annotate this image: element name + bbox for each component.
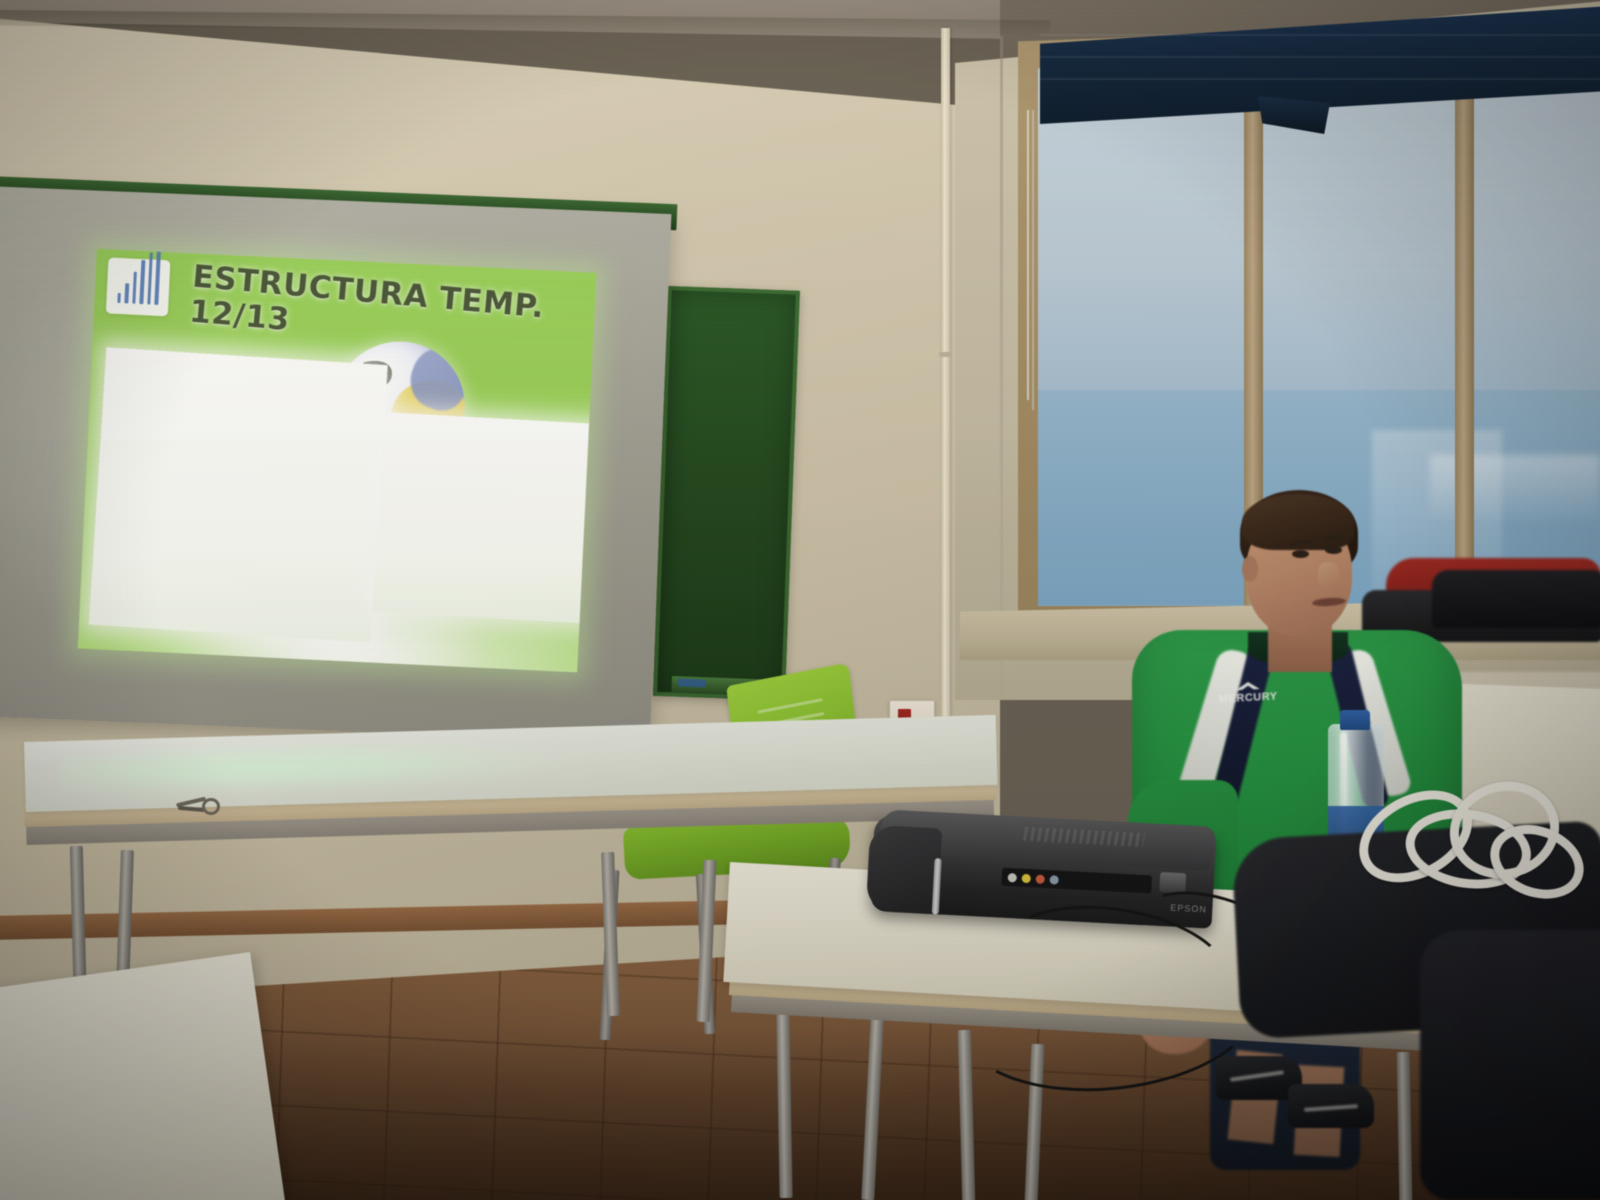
projector-usb-port[interactable] [1159,872,1186,893]
eye [1292,550,1309,558]
key-ring[interactable] [176,796,226,818]
wall-conduit [941,28,950,718]
bottle-cap[interactable] [1340,710,1370,730]
swoosh-icon [1235,681,1259,691]
eye [1325,546,1342,554]
blind-slat [1040,78,1600,80]
nose [1318,562,1340,588]
blind-slat [1040,56,1600,58]
slide-content-box-right [372,412,596,624]
jersey-brand-text: MERCURY [1219,690,1278,705]
projected-slide: ESTRUCTURA TEMP. 12/13 ¿? [78,249,597,673]
dark-jacket-draped [1420,930,1600,1200]
conduit-joint [939,352,952,357]
blind-cord[interactable] [1032,110,1034,410]
chalkboard-frame [653,286,800,701]
ear [1242,556,1258,582]
table-leg [1397,1052,1413,1200]
photo-scene: ESTRUCTURA TEMP. 12/13 ¿? [0,0,1600,1200]
green-chalkboard [653,286,800,701]
blind-slat [1040,34,1600,36]
bar-chart-icon [106,257,171,316]
jersey-brand-logo: MERCURY [1214,678,1281,707]
projector-lens [866,825,942,915]
wall-corner-seam [1000,36,1003,696]
chalk-item [678,678,706,687]
coiled-extension-cord[interactable] [1340,764,1595,948]
foreground-table [0,952,286,1200]
blind-cord[interactable] [1027,110,1029,400]
slide-content-box-left [89,347,388,642]
projection-screen: ESTRUCTURA TEMP. 12/13 ¿? [0,186,671,744]
sneaker [1288,1084,1374,1128]
